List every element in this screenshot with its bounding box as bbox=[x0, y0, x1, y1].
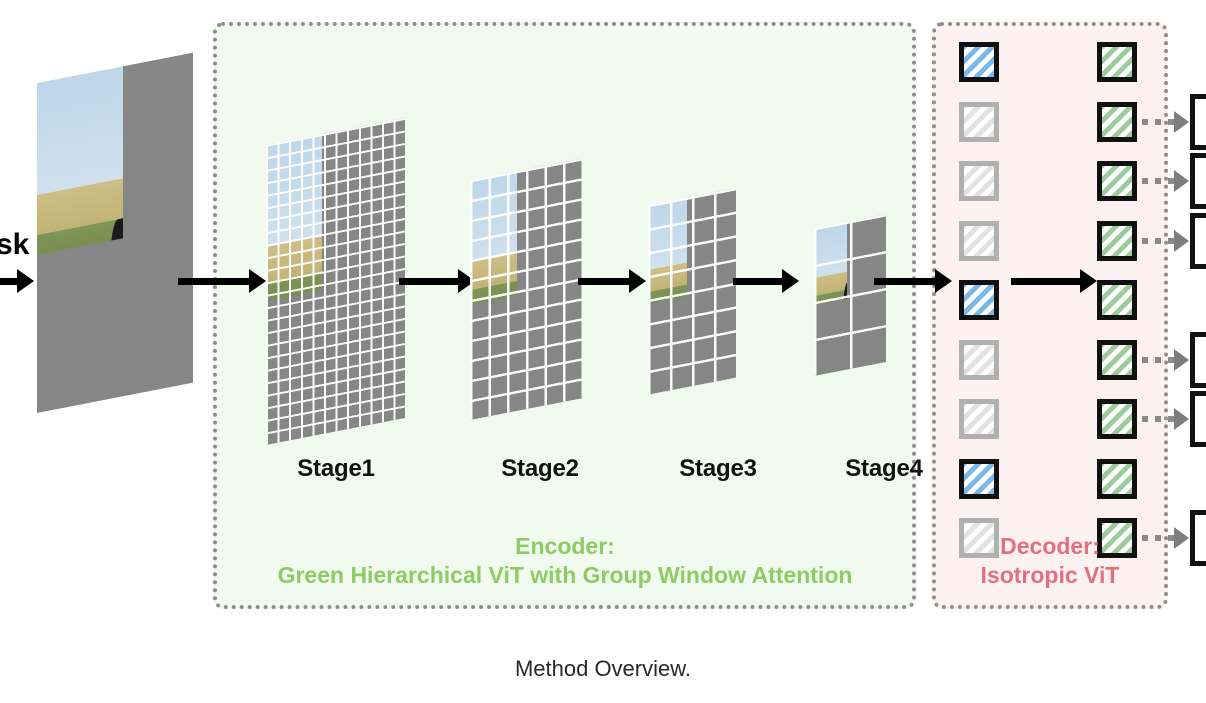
stage1-feature-map bbox=[266, 145, 406, 445]
decoder-output-token-predicted bbox=[1097, 221, 1137, 261]
decoder-output-token-predicted bbox=[1097, 280, 1137, 320]
dashed-shaft bbox=[1142, 119, 1176, 125]
dashed-arrowhead bbox=[1174, 170, 1189, 192]
dashed-shaft bbox=[1142, 238, 1176, 244]
token-hatch bbox=[964, 404, 994, 434]
stage2-grid bbox=[470, 158, 582, 420]
reconstruction-target-box bbox=[1190, 332, 1206, 388]
token-hatch bbox=[1102, 226, 1132, 256]
token-hatch bbox=[964, 166, 994, 196]
decoder-input-token-visible bbox=[959, 459, 999, 499]
stage2-feature-map bbox=[470, 180, 582, 420]
decoder-output-token-predicted bbox=[1097, 42, 1137, 82]
dashed-arrowhead bbox=[1174, 527, 1189, 549]
stage4-grid bbox=[814, 214, 886, 376]
dashed-arrowhead bbox=[1174, 111, 1189, 133]
figure-root: sk Stage1 bbox=[0, 0, 1206, 703]
figure-caption: Method Overview. bbox=[0, 656, 1206, 682]
decoder-input-token-masked bbox=[959, 340, 999, 380]
reconstruction-target-box bbox=[1190, 94, 1206, 150]
token-hatch bbox=[964, 107, 994, 137]
stage2-label: Stage2 bbox=[450, 455, 630, 483]
stage1-grid bbox=[266, 118, 406, 445]
encoder-subtitle: Green Hierarchical ViT with Group Window… bbox=[219, 561, 911, 590]
stage4-feature-map bbox=[814, 228, 886, 376]
dashed-shaft bbox=[1142, 357, 1176, 363]
reconstruction-target-box bbox=[1190, 510, 1206, 566]
decoder-title: Decoder: bbox=[936, 532, 1164, 561]
token-hatch bbox=[1102, 464, 1132, 494]
token-hatch bbox=[964, 226, 994, 256]
mask-input-label: sk bbox=[0, 228, 29, 262]
dashed-arrowhead bbox=[1174, 230, 1189, 252]
decoder-input-token-masked bbox=[959, 102, 999, 142]
decoder-input-token-visible bbox=[959, 280, 999, 320]
dashed-arrowhead bbox=[1174, 408, 1189, 430]
token-hatch bbox=[1102, 166, 1132, 196]
token-hatch bbox=[1102, 47, 1132, 77]
decoder-output-token-predicted bbox=[1097, 459, 1137, 499]
dashed-link-arrow bbox=[1142, 117, 1190, 127]
token-hatch bbox=[964, 285, 994, 315]
dashed-arrowhead bbox=[1174, 349, 1189, 371]
token-hatch bbox=[964, 345, 994, 375]
stage4-label: Stage4 bbox=[794, 455, 974, 483]
stage3-grid bbox=[648, 188, 736, 395]
token-hatch bbox=[964, 47, 994, 77]
decoder-output-token-predicted bbox=[1097, 161, 1137, 201]
reconstruction-target-box bbox=[1190, 153, 1206, 209]
decoder-subtitle: Isotropic ViT bbox=[936, 561, 1164, 590]
token-hatch bbox=[964, 464, 994, 494]
decoder-input-token-visible bbox=[959, 42, 999, 82]
decoder-output-token-predicted bbox=[1097, 340, 1137, 380]
decoder-output-token-predicted bbox=[1097, 399, 1137, 439]
dashed-link-arrow bbox=[1142, 236, 1190, 246]
token-hatch bbox=[1102, 107, 1132, 137]
masked-input-image bbox=[37, 83, 193, 413]
encoder-caption: Encoder: Green Hierarchical ViT with Gro… bbox=[219, 532, 911, 590]
decoder-output-token-predicted bbox=[1097, 102, 1137, 142]
encoder-title: Encoder: bbox=[219, 532, 911, 561]
dashed-link-arrow bbox=[1142, 414, 1190, 424]
token-hatch bbox=[1102, 345, 1132, 375]
token-hatch bbox=[1102, 285, 1132, 315]
decoder-caption: Decoder: Isotropic ViT bbox=[936, 532, 1164, 590]
stage3-label: Stage3 bbox=[628, 455, 808, 483]
reconstruction-target-box bbox=[1190, 391, 1206, 447]
token-hatch bbox=[1102, 404, 1132, 434]
dashed-link-arrow bbox=[1142, 355, 1190, 365]
stage3-feature-map bbox=[648, 205, 736, 395]
reconstruction-target-box bbox=[1190, 213, 1206, 269]
decoder-input-token-masked bbox=[959, 399, 999, 439]
decoder-input-token-masked bbox=[959, 161, 999, 201]
stage1-label: Stage1 bbox=[246, 455, 426, 483]
decoder-input-token-masked bbox=[959, 221, 999, 261]
dashed-link-arrow bbox=[1142, 176, 1190, 186]
dashed-shaft bbox=[1142, 416, 1176, 422]
dashed-shaft bbox=[1142, 178, 1176, 184]
